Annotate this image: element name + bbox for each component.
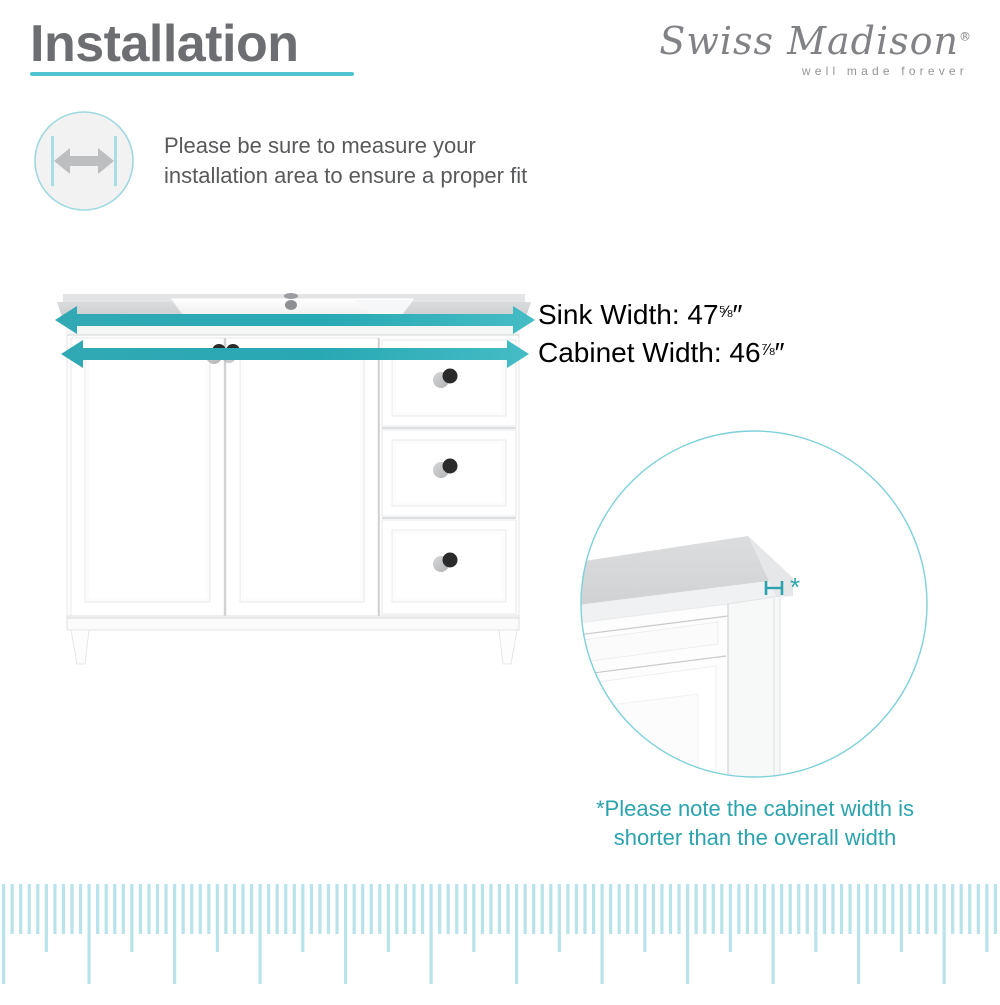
ruler-tick xyxy=(122,884,125,934)
ruler-tick xyxy=(754,884,757,934)
measure-note-text: Please be sure to measure your installat… xyxy=(164,131,527,190)
ruler-tick xyxy=(344,884,347,984)
ruler-tick xyxy=(489,884,492,934)
cabinet-legs xyxy=(71,630,517,664)
ruler-tick xyxy=(583,884,586,934)
ruler-tick xyxy=(164,884,167,934)
ruler-tick xyxy=(481,884,484,934)
ruler-tick xyxy=(45,884,48,952)
ruler-tick xyxy=(515,884,518,984)
ruler-tick xyxy=(199,884,202,934)
ruler-tick xyxy=(601,884,604,984)
ruler-tick xyxy=(455,884,458,934)
cabinet-door-right xyxy=(226,338,378,616)
ruler-tick xyxy=(532,884,535,934)
cabinet-drawer-2 xyxy=(382,430,516,516)
cabinet-body xyxy=(67,326,519,664)
ruler-tick xyxy=(951,884,954,934)
cabinet-door-left xyxy=(71,338,224,616)
ruler-tick xyxy=(284,884,287,934)
ruler-tick xyxy=(789,884,792,934)
sink-width-value: 47 xyxy=(687,299,718,330)
ruler-tick xyxy=(541,884,544,934)
ruler-tick xyxy=(464,884,467,934)
vanity-illustration xyxy=(55,278,535,668)
ruler-tick xyxy=(105,884,108,934)
ruler-tick xyxy=(88,884,91,984)
sink-width-unit: ″ xyxy=(733,299,743,330)
ruler-tick xyxy=(224,884,227,934)
ruler-tick xyxy=(404,884,407,934)
ruler-tick xyxy=(960,884,963,934)
cabinet-drawer-3 xyxy=(382,520,516,614)
sink-width-fraction: ⅝ xyxy=(719,302,733,321)
ruler-tick xyxy=(780,884,783,934)
ruler-tick xyxy=(566,884,569,934)
ruler-tick xyxy=(387,884,390,952)
ruler-tick xyxy=(695,884,698,934)
ruler-tick xyxy=(70,884,73,934)
ruler-tick xyxy=(985,884,988,952)
ruler-decoration xyxy=(0,884,1000,1000)
ruler-tick xyxy=(943,884,946,984)
ruler-tick xyxy=(335,884,338,934)
ruler-tick xyxy=(430,884,433,984)
footnote-line-2: shorter than the overall width xyxy=(555,824,955,853)
ruler-tick xyxy=(147,884,150,934)
ruler-tick xyxy=(660,884,663,934)
ruler-tick xyxy=(353,884,356,934)
ruler-tick xyxy=(113,884,116,934)
ruler-tick xyxy=(763,884,766,934)
ruler-tick xyxy=(207,884,210,934)
ruler-tick xyxy=(276,884,279,934)
ruler-tick xyxy=(182,884,185,934)
title-underline-divider xyxy=(30,72,354,76)
ruler-tick xyxy=(370,884,373,934)
ruler-tick xyxy=(156,884,159,934)
ruler-tick xyxy=(250,884,253,934)
ruler-tick xyxy=(506,884,509,934)
brand-tagline: well made forever xyxy=(659,64,968,78)
ruler-tick xyxy=(592,884,595,934)
footnote: *Please note the cabinet width is shorte… xyxy=(555,795,955,852)
ruler-tick xyxy=(438,884,441,934)
ruler-tick xyxy=(994,884,997,934)
ruler-tick xyxy=(259,884,262,984)
ruler-tick xyxy=(96,884,99,934)
ruler-tick xyxy=(669,884,672,934)
ruler-tick xyxy=(233,884,236,934)
ruler-tick xyxy=(28,884,31,934)
ruler-tick xyxy=(216,884,219,952)
overhang-asterisk: * xyxy=(790,572,800,602)
ruler-tick xyxy=(130,884,133,952)
measure-note: Please be sure to measure your installat… xyxy=(30,110,527,212)
ruler-tick xyxy=(139,884,142,934)
ruler-tick xyxy=(421,884,424,934)
ruler-tick xyxy=(883,884,886,934)
ruler-tick xyxy=(857,884,860,984)
ruler-tick xyxy=(925,884,928,934)
footnote-line-1: *Please note the cabinet width is xyxy=(555,795,955,824)
ruler-tick xyxy=(11,884,14,934)
ruler-tick xyxy=(823,884,826,934)
cabinet-width-text: Cabinet Width: xyxy=(538,337,722,368)
brand-logo: Swiss Madison® well made forever xyxy=(659,22,972,78)
ruler-tick xyxy=(575,884,578,934)
ruler-tick xyxy=(241,884,244,934)
ruler-tick xyxy=(190,884,193,934)
ruler-tick xyxy=(934,884,937,934)
registered-trademark-icon: ® xyxy=(959,29,972,43)
ruler-tick xyxy=(917,884,920,934)
dimension-labels: Sink Width: 47⅝″ Cabinet Width: 46⅞″ xyxy=(538,297,785,374)
sink-width-label: Sink Width: 47⅝″ xyxy=(538,297,785,333)
ruler-tick xyxy=(378,884,381,934)
ruler-tick xyxy=(310,884,313,934)
double-arrow-measure-icon xyxy=(30,110,138,212)
cabinet-width-fraction: ⅞ xyxy=(761,340,775,359)
ruler-tick xyxy=(173,884,176,984)
ruler-tick xyxy=(53,884,56,934)
ruler-ticks xyxy=(0,884,1000,1000)
ruler-tick xyxy=(806,884,809,934)
ruler-tick xyxy=(848,884,851,934)
ruler-tick xyxy=(36,884,39,934)
cabinet-width-label: Cabinet Width: 46⅞″ xyxy=(538,335,785,371)
ruler-tick xyxy=(866,884,869,934)
ruler-tick xyxy=(609,884,612,934)
ruler-tick xyxy=(686,884,689,984)
ruler-tick xyxy=(79,884,82,934)
page-title: Installation xyxy=(30,18,298,70)
measure-note-line-1: Please be sure to measure your xyxy=(164,131,527,161)
ruler-tick xyxy=(626,884,629,934)
ruler-tick xyxy=(549,884,552,934)
ruler-tick xyxy=(301,884,304,952)
ruler-tick xyxy=(900,884,903,952)
ruler-tick xyxy=(318,884,321,934)
ruler-tick xyxy=(729,884,732,952)
ruler-tick xyxy=(2,884,5,984)
brand-name-text: Swiss Madison xyxy=(659,19,959,63)
ruler-tick xyxy=(968,884,971,934)
cabinet-corner-detail: * xyxy=(578,428,930,780)
ruler-tick xyxy=(712,884,715,934)
ruler-tick xyxy=(831,884,834,934)
cabinet-width-unit: ″ xyxy=(775,337,785,368)
ruler-tick xyxy=(720,884,723,934)
ruler-tick xyxy=(267,884,270,934)
ruler-tick xyxy=(472,884,475,952)
ruler-tick xyxy=(447,884,450,934)
ruler-tick xyxy=(891,884,894,934)
ruler-tick xyxy=(908,884,911,934)
ruler-tick xyxy=(327,884,330,934)
ruler-tick xyxy=(797,884,800,934)
ruler-tick xyxy=(746,884,749,934)
ruler-tick xyxy=(737,884,740,934)
ruler-tick xyxy=(558,884,561,952)
ruler-tick xyxy=(772,884,775,984)
measure-note-line-2: installation area to ensure a proper fit xyxy=(164,161,527,191)
ruler-tick xyxy=(618,884,621,934)
ruler-tick xyxy=(19,884,22,934)
ruler-tick xyxy=(703,884,706,934)
cabinet-width-value: 46 xyxy=(729,337,760,368)
ruler-tick xyxy=(498,884,501,934)
ruler-tick xyxy=(361,884,364,934)
ruler-tick xyxy=(874,884,877,934)
ruler-tick xyxy=(395,884,398,934)
ruler-tick xyxy=(677,884,680,934)
ruler-tick xyxy=(62,884,65,934)
ruler-tick xyxy=(524,884,527,934)
ruler-tick xyxy=(635,884,638,934)
ruler-tick xyxy=(814,884,817,952)
ruler-tick xyxy=(412,884,415,934)
ruler-tick xyxy=(643,884,646,952)
ruler-tick xyxy=(977,884,980,934)
ruler-tick xyxy=(293,884,296,934)
sink-width-text: Sink Width: xyxy=(538,299,680,330)
brand-name: Swiss Madison® xyxy=(659,22,972,60)
ruler-tick xyxy=(840,884,843,934)
ruler-tick xyxy=(652,884,655,934)
